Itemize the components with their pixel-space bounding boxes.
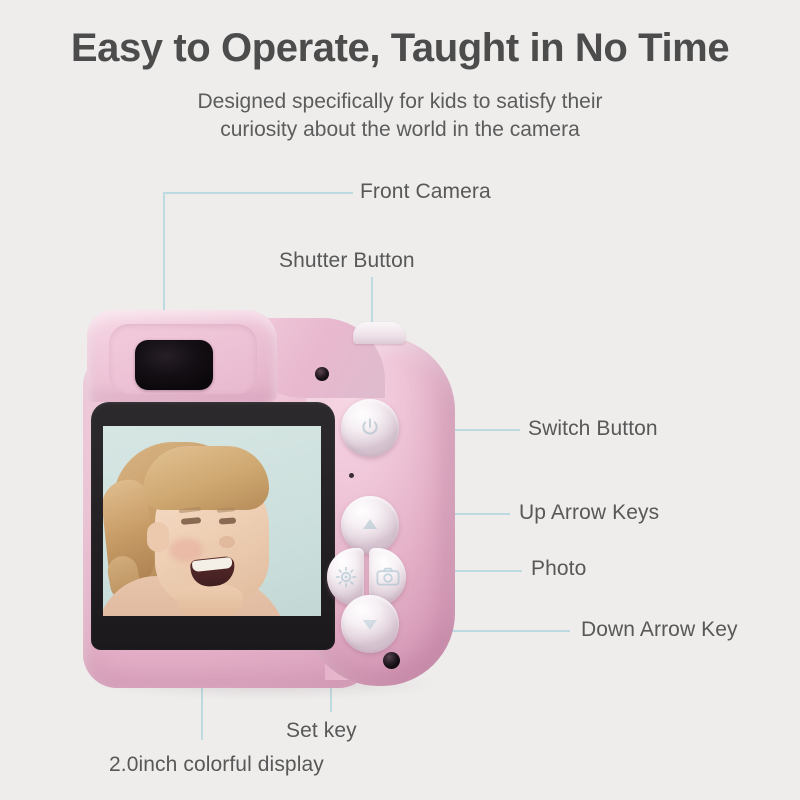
callout-down-arrow-key: Down Arrow Key xyxy=(581,618,738,642)
gear-sun-icon xyxy=(335,566,357,588)
page-subtitle: Designed specifically for kids to satisf… xyxy=(0,88,800,145)
up-arrow-button[interactable] xyxy=(341,496,399,554)
callout-display: 2.0inch colorful display xyxy=(109,753,324,777)
callout-photo: Photo xyxy=(531,557,586,581)
page-title: Easy to Operate, Taught in No Time xyxy=(0,26,800,71)
lens-housing xyxy=(87,310,277,402)
callout-set-key: Set key xyxy=(286,719,357,743)
callout-up-arrow-keys: Up Arrow Keys xyxy=(519,501,659,525)
switch-button[interactable] xyxy=(341,399,399,457)
lcd-bezel xyxy=(91,402,335,650)
microphone-icon xyxy=(315,367,329,381)
page-subtitle-line-2: curiosity about the world in the camera xyxy=(0,116,800,144)
photo-teeth xyxy=(192,557,233,572)
shutter-icon[interactable] xyxy=(353,322,405,344)
down-arrow-icon xyxy=(357,611,383,637)
strap-hole-icon xyxy=(383,652,400,669)
photo-ear xyxy=(147,522,169,552)
photo-cheek xyxy=(169,538,203,562)
indicator-led-icon xyxy=(349,473,354,478)
front-lens-icon xyxy=(135,340,213,390)
callout-front-camera: Front Camera xyxy=(360,180,491,204)
page-subtitle-line-1: Designed specifically for kids to satisf… xyxy=(0,88,800,116)
photo-fringe xyxy=(143,446,269,510)
photo-chin xyxy=(177,584,243,616)
camera-icon xyxy=(376,567,400,587)
down-arrow-button[interactable] xyxy=(341,595,399,653)
callout-shutter-button: Shutter Button xyxy=(279,249,415,273)
photo-eye-right xyxy=(219,517,236,524)
leader-line-front-camera-horizontal xyxy=(163,192,353,194)
photo-nose xyxy=(219,536,235,548)
callout-switch-button: Switch Button xyxy=(528,417,658,441)
power-icon xyxy=(358,416,382,440)
up-arrow-icon xyxy=(357,512,383,538)
lcd-screen xyxy=(103,426,321,616)
infographic-canvas: Easy to Operate, Taught in No Time Desig… xyxy=(0,0,800,800)
camera-illustration xyxy=(75,300,475,720)
